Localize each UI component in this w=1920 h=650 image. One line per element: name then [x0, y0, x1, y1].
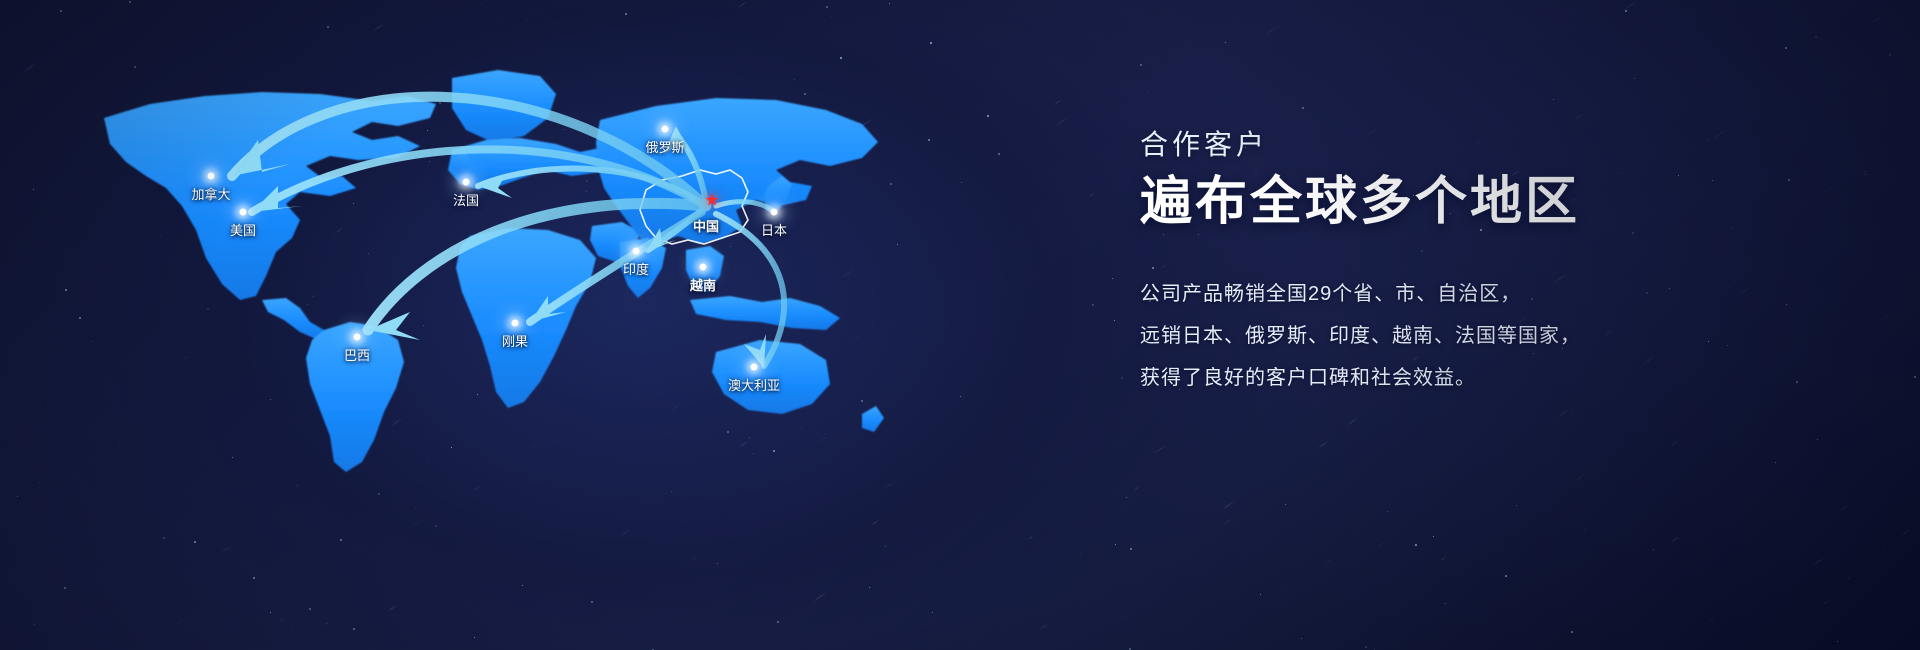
world-map-svg — [0, 0, 980, 650]
world-map: ★ 加拿大 美国 巴西 法国 俄罗斯 印度 刚果 中国 — [0, 0, 980, 650]
landmass-indonesia — [690, 296, 840, 330]
landmass-southeast-asia — [686, 246, 724, 292]
paragraph-line: 公司产品畅销全国29个省、市、自治区， — [1140, 273, 1840, 315]
landmass-south-america — [306, 322, 404, 472]
landmasses — [104, 70, 884, 472]
world-map-banner: ★ 加拿大 美国 巴西 法国 俄罗斯 印度 刚果 中国 — [0, 0, 1920, 650]
landmass-africa — [456, 228, 596, 408]
china-home-star-marker: ★ — [704, 192, 719, 209]
banner-title: 遍布全球多个地区 — [1140, 172, 1840, 233]
banner-subtitle: 合作客户 — [1140, 128, 1840, 162]
banner-copy: 合作客户 遍布全球多个地区 公司产品畅销全国29个省、市、自治区， 远销日本、俄… — [1140, 128, 1840, 399]
paragraph-line: 获得了良好的客户口碑和社会效益。 — [1140, 357, 1840, 399]
banner-paragraph: 公司产品畅销全国29个省、市、自治区， 远销日本、俄罗斯、印度、越南、法国等国家… — [1140, 273, 1840, 399]
paragraph-line: 远销日本、俄罗斯、印度、越南、法国等国家， — [1140, 315, 1840, 357]
landmass-central-america — [262, 298, 324, 340]
landmass-new-zealand — [862, 406, 884, 432]
